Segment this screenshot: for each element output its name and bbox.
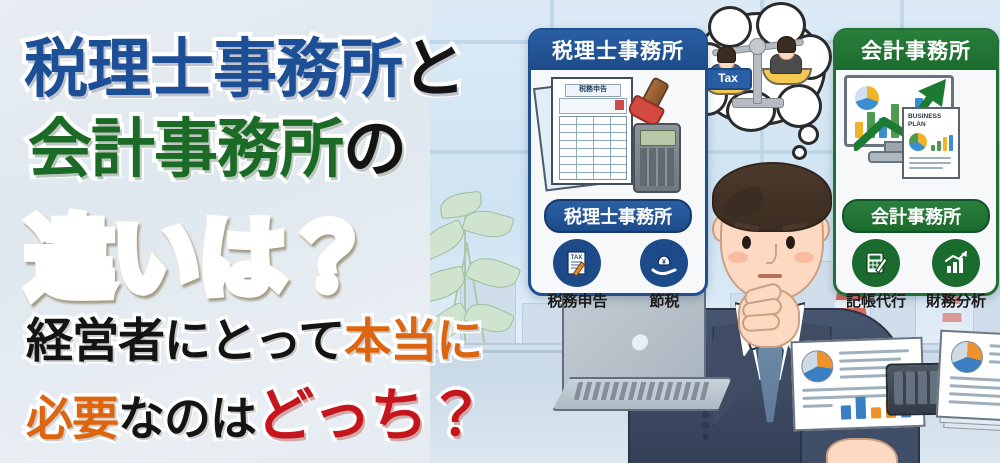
svg-text:TAX: TAX (571, 255, 583, 261)
headline-line-5-b: なのは (118, 392, 256, 445)
headline-block: 税理士事務所と 会計事務所の 違いは？ 経営者にとって本当に 必要なのはどっち？ (0, 0, 560, 463)
service-financial-analysis[interactable]: 財務分析 (926, 239, 986, 311)
service-tax-saving[interactable]: ¥ 節税 (640, 239, 688, 311)
bubble-dot-small (792, 145, 807, 160)
tax-office-pill: 税理士事務所 (544, 199, 692, 233)
money-saving-hand-icon: ¥ (640, 239, 688, 287)
laptop-keyboard (574, 382, 710, 400)
headline-line-5: 必要なのはどっち？ (26, 368, 484, 452)
headline-line-2-main: 会計事務所 (28, 113, 343, 185)
service-bookkeeping[interactable]: 記帳代行 (846, 239, 906, 311)
headline-line-1: 税理士事務所と (24, 18, 465, 110)
headline-line-1-suffix: と (402, 33, 465, 105)
accounting-office-services: 記帳代行 財務分析 (836, 239, 996, 311)
financial-analysis-chart-icon (932, 239, 980, 287)
eye-left (742, 236, 751, 249)
headline-line-4-a: 経営者にとって (26, 314, 344, 367)
eye-right (786, 236, 795, 249)
headline-line-4-b: 本当に (344, 314, 482, 367)
document-pie-chart (801, 350, 834, 383)
headline-line-1-main: 税理士事務所 (24, 33, 402, 105)
laptop-logo (632, 334, 648, 352)
hand-on-chin (738, 288, 800, 348)
mouth (758, 274, 782, 278)
calculator-illustration (633, 123, 681, 193)
service-label: 記帳代行 (846, 290, 906, 311)
headline-line-5-c: どっち？ (256, 383, 484, 448)
headline-line-5-a: 必要 (26, 392, 118, 445)
business-plan-title-line1: BUSINESS (908, 113, 941, 121)
svg-text:¥: ¥ (663, 259, 667, 266)
tax-label: Tax (704, 68, 752, 90)
hanko-stamp-icon (626, 73, 673, 126)
tax-document-icon: TAX (553, 239, 601, 287)
stacked-documents (936, 330, 1000, 425)
document-pie-chart (950, 340, 984, 374)
accountant-avatar (770, 36, 800, 70)
business-plan-document: BUSINESS PLAN (902, 107, 960, 179)
headline-line-4: 経営者にとって本当に (26, 302, 482, 371)
cheek-right (794, 252, 814, 263)
service-label: 節税 (649, 290, 679, 311)
service-label: 財務分析 (926, 290, 986, 311)
promo-banner: Tax (0, 0, 1000, 463)
thought-bubble: Tax (692, 12, 820, 128)
accounting-office-pill: 会計事務所 (842, 199, 990, 233)
balance-scale-icon: Tax (706, 26, 806, 108)
card-accounting-office-header: 会計事務所 (835, 30, 997, 70)
headline-line-2-suffix: の (343, 113, 406, 185)
headline-line-3: 違いは？ (26, 188, 370, 315)
headline-line-2: 会計事務所の (28, 98, 406, 190)
card-accounting-office[interactable]: 会計事務所 BUSINESS (833, 28, 999, 296)
card-accounting-office-body: BUSINESS PLAN 会計事務所 (836, 71, 996, 293)
bookkeeping-calculator-icon (852, 239, 900, 287)
tax-doc-title: 税務申告 (565, 84, 621, 97)
hair (712, 162, 832, 232)
cheek-left (728, 252, 748, 263)
bubble-dot-large (798, 124, 819, 145)
business-plan-title-line2: PLAN (908, 121, 926, 129)
